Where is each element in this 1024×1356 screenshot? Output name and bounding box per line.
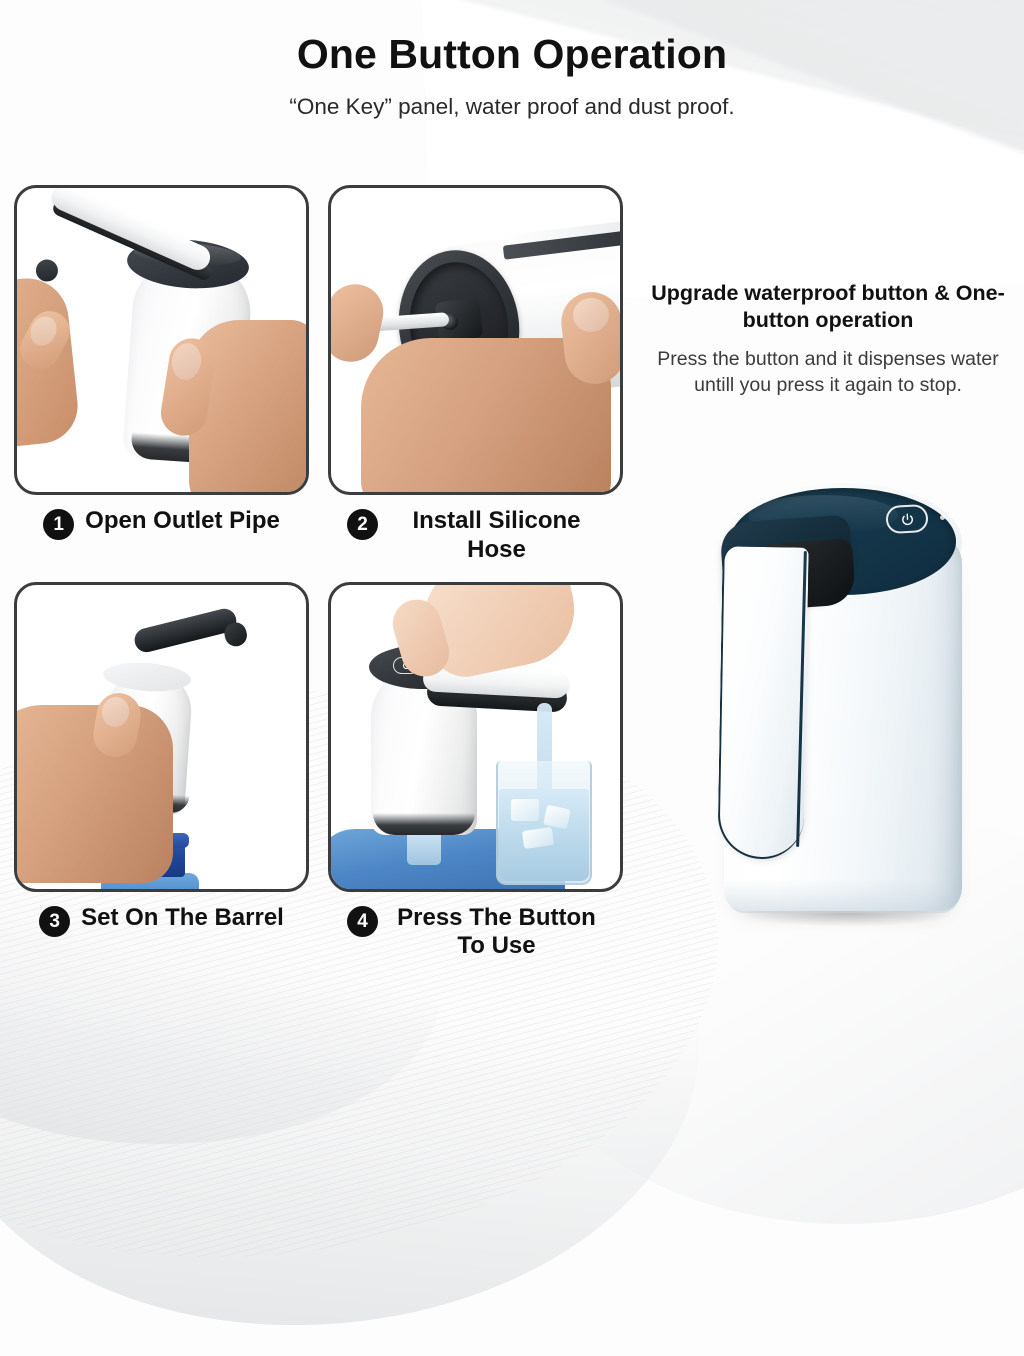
outlet-pipe-folded	[132, 606, 239, 654]
step-label: Open Outlet Pipe	[85, 507, 280, 536]
feature-body: Press the button and it dispenses water …	[640, 347, 1016, 398]
steps-row-bottom: 3 Set On The Barrel	[14, 582, 626, 962]
steps-row-top: 1 Open Outlet Pipe	[14, 185, 626, 565]
step-card-4: 4 Press The Button To Use	[328, 582, 623, 962]
ice-cube	[543, 804, 571, 829]
step-label: Press The Button To Use	[389, 904, 604, 962]
step-number-badge: 3	[39, 906, 70, 937]
page-title: One Button Operation	[0, 33, 1024, 76]
dispenser-base	[373, 813, 475, 835]
step-label: Set On The Barrel	[81, 904, 284, 933]
step-card-1: 1 Open Outlet Pipe	[14, 185, 309, 565]
step-photo-press-the-button	[328, 582, 623, 892]
step-number-badge: 2	[347, 509, 378, 540]
ice-cube	[522, 827, 554, 849]
step-label: Install Silicone Hose	[389, 507, 604, 565]
step-card-2: 2 Install Silicone Hose	[328, 185, 623, 565]
steps-grid: 1 Open Outlet Pipe	[14, 185, 626, 961]
step-caption-3: 3 Set On The Barrel	[14, 904, 309, 937]
hero-product-image	[690, 455, 1010, 955]
header: One Button Operation “One Key” panel, wa…	[0, 0, 1024, 120]
power-button-icon	[885, 504, 928, 534]
finger-left	[328, 279, 388, 367]
step-caption-1: 1 Open Outlet Pipe	[14, 507, 309, 540]
step-caption-2: 2 Install Silicone Hose	[328, 507, 623, 565]
led-indicator-icon	[940, 515, 945, 520]
step-caption-4: 4 Press The Button To Use	[328, 904, 623, 962]
step-photo-install-silicone-hose	[328, 185, 623, 495]
feature-heading: Upgrade waterproof button & One-button o…	[640, 280, 1016, 334]
step-number-badge: 4	[347, 906, 378, 937]
step-number-badge: 1	[43, 509, 74, 540]
page-subtitle: “One Key” panel, water proof and dust pr…	[0, 94, 1024, 120]
step-photo-open-outlet-pipe	[14, 185, 309, 495]
ice-cube	[511, 799, 539, 821]
folded-spout-blade	[717, 546, 808, 859]
step-card-3: 3 Set On The Barrel	[14, 582, 309, 962]
step-photo-set-on-the-barrel	[14, 582, 309, 892]
feature-text-block: Upgrade waterproof button & One-button o…	[640, 280, 1016, 398]
